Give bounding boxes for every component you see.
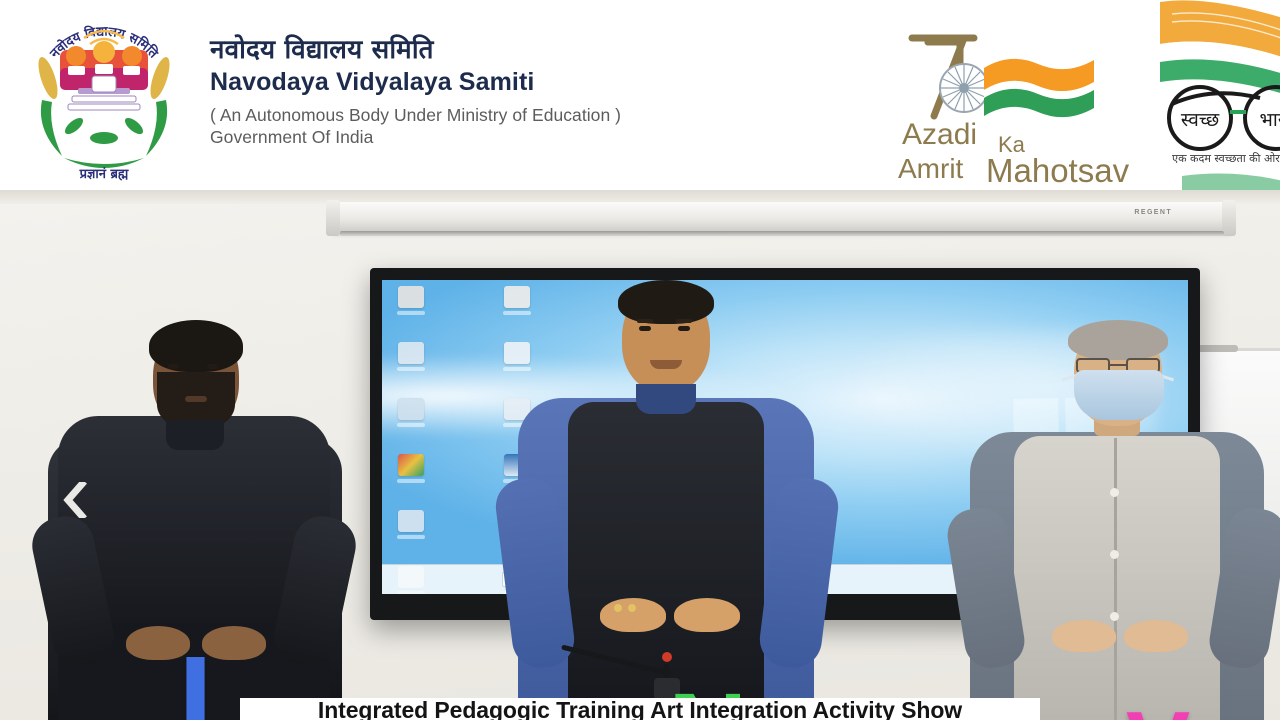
photo-caption-bar: Integrated Pedagogic Training Art Integr… — [240, 698, 1040, 720]
hand-right — [674, 598, 740, 632]
rail-bottom-edge — [340, 231, 1224, 236]
azadi-ka-amrit-mahotsav-icon: Azadi Ka Amrit Mahotsav — [898, 12, 1148, 184]
desktop-icon[interactable] — [396, 398, 426, 438]
collar — [166, 420, 224, 450]
microphone-led — [662, 652, 672, 662]
eye-left — [168, 364, 179, 369]
event-photo: REGENT — [0, 190, 1280, 720]
svg-text:प्रज्ञानं ब्रह्म: प्रज्ञानं ब्रह्म — [79, 166, 129, 182]
rail-brand-label: REGENT — [1134, 209, 1172, 216]
finger-ring — [614, 604, 622, 612]
org-title-block: नवोदय विद्यालय समिति Navodaya Vidyalaya … — [210, 36, 680, 149]
hand-left — [1052, 620, 1116, 652]
nvs-emblem-icon: नवोदय विद्यालय समिति प्रज्ञानं ब्रह् — [22, 8, 186, 184]
vest-placket — [1114, 438, 1117, 720]
desktop-icon[interactable] — [396, 510, 426, 550]
previous-slide-arrow-icon[interactable] — [58, 478, 92, 522]
swachh-bharat-icon: स्वच्छ भारत एक कदम स्वच्छता की ओर — [1152, 0, 1280, 190]
person-center — [496, 280, 836, 720]
vest-button — [1110, 612, 1119, 621]
hair — [149, 320, 243, 372]
vest-button — [1110, 550, 1119, 559]
svg-text:Mahotsav: Mahotsav — [986, 152, 1130, 184]
desktop-icon[interactable] — [396, 454, 426, 494]
photo-caption-text: Integrated Pedagogic Training Art Integr… — [318, 698, 962, 720]
eye-left — [639, 326, 651, 331]
collar — [636, 384, 696, 414]
hair — [1068, 320, 1168, 360]
projector-screen-rail: REGENT — [332, 202, 1232, 232]
letter-cutout-v: V — [1126, 698, 1190, 720]
face-mask — [1074, 370, 1164, 420]
svg-text:एक कदम स्वच्छता की ओर: एक कदम स्वच्छता की ओर — [1172, 152, 1280, 165]
eye-right — [678, 326, 690, 331]
desktop-icon[interactable] — [396, 342, 426, 382]
hand-right — [1124, 620, 1188, 652]
eye-right — [207, 364, 218, 369]
vest-button — [1110, 488, 1119, 497]
org-name-english: Navodaya Vidyalaya Samiti — [210, 67, 680, 97]
eyebrow-left — [637, 319, 653, 323]
svg-text:स्वच्छ: स्वच्छ — [1181, 109, 1220, 131]
rail-cap-left — [326, 200, 340, 236]
mouth — [185, 396, 207, 402]
org-subtitle: ( An Autonomous Body Under Ministry of E… — [210, 105, 680, 149]
eyebrow-right — [676, 319, 692, 323]
desktop-icon[interactable] — [396, 286, 426, 326]
page-header: नवोदय विद्यालय समिति प्रज्ञानं ब्रह् — [0, 0, 1280, 190]
org-name-hindi: नवोदय विद्यालय समिति — [210, 36, 680, 65]
svg-text:Azadi: Azadi — [902, 118, 977, 151]
finger-ring — [628, 604, 636, 612]
svg-text:भारत: भारत — [1260, 109, 1280, 131]
hand-left — [600, 598, 666, 632]
mouth-smile — [650, 360, 682, 369]
grey-vest — [1014, 436, 1220, 720]
rail-cap-right — [1222, 200, 1236, 236]
person-right — [952, 320, 1280, 720]
svg-text:Amrit: Amrit — [898, 153, 964, 184]
hair — [618, 280, 714, 324]
